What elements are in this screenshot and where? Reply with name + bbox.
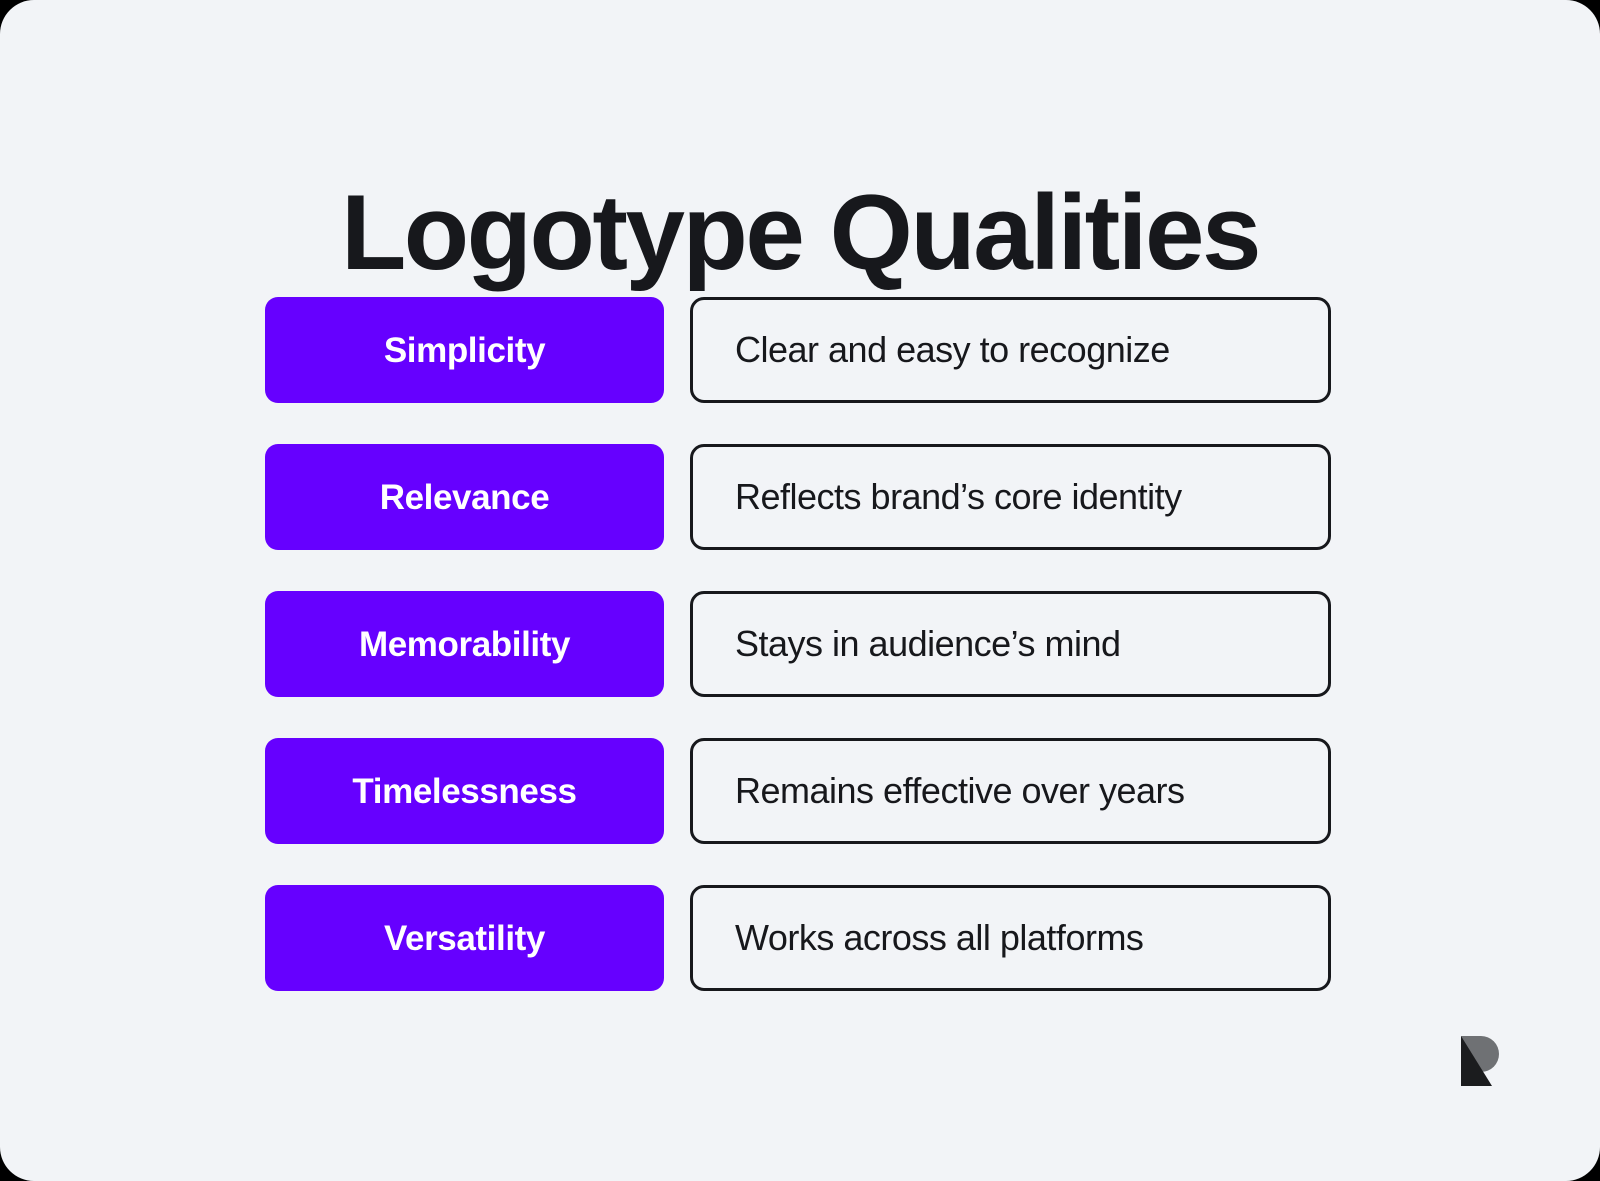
quality-description-box[interactable]: Works across all platforms [690, 885, 1331, 991]
quality-description-box[interactable]: Remains effective over years [690, 738, 1331, 844]
list-item: Simplicity Clear and easy to recognize [265, 297, 1331, 403]
r-monogram-logo-icon [1451, 1032, 1509, 1090]
quality-label: Relevance [380, 480, 550, 515]
quality-pill[interactable]: Memorability [265, 591, 664, 697]
list-item: Timelessness Remains effective over year… [265, 738, 1331, 844]
quality-pill[interactable]: Timelessness [265, 738, 664, 844]
quality-description: Remains effective over years [693, 773, 1185, 809]
quality-description-box[interactable]: Clear and easy to recognize [690, 297, 1331, 403]
quality-description: Reflects brand’s core identity [693, 479, 1182, 515]
list-item: Versatility Works across all platforms [265, 885, 1331, 991]
quality-label: Simplicity [384, 333, 545, 368]
quality-description-box[interactable]: Stays in audience’s mind [690, 591, 1331, 697]
quality-label: Versatility [384, 921, 545, 956]
quality-label: Timelessness [352, 774, 576, 809]
list-item: Memorability Stays in audience’s mind [265, 591, 1331, 697]
quality-description: Stays in audience’s mind [693, 626, 1121, 662]
quality-description: Clear and easy to recognize [693, 332, 1170, 368]
slide-card: Logotype Qualities Simplicity Clear and … [0, 0, 1600, 1181]
list-item: Relevance Reflects brand’s core identity [265, 444, 1331, 550]
quality-label: Memorability [359, 627, 570, 662]
quality-description-box[interactable]: Reflects brand’s core identity [690, 444, 1331, 550]
quality-description: Works across all platforms [693, 920, 1143, 956]
qualities-list: Simplicity Clear and easy to recognize R… [265, 297, 1331, 991]
page-title: Logotype Qualities [0, 176, 1600, 288]
quality-pill[interactable]: Simplicity [265, 297, 664, 403]
quality-pill[interactable]: Relevance [265, 444, 664, 550]
quality-pill[interactable]: Versatility [265, 885, 664, 991]
